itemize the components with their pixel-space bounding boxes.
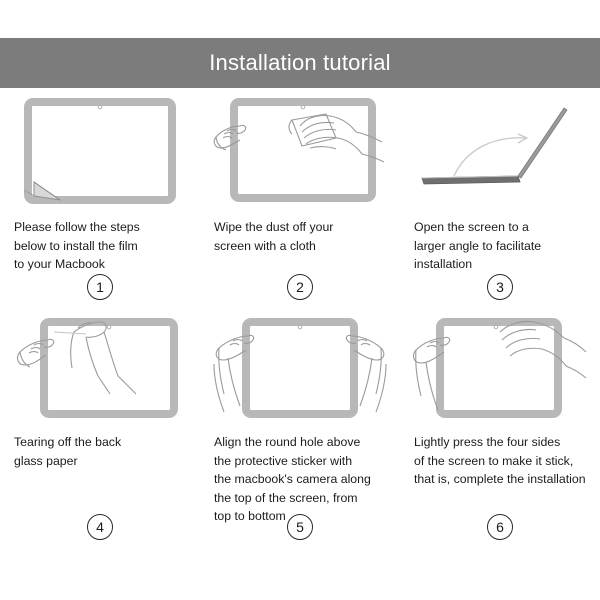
step-3-illustration [414, 96, 586, 208]
step-3-badge-wrap: 3 [400, 274, 600, 300]
steps-grid: Please follow the steps below to install… [0, 96, 600, 596]
laptop-lid-icon [518, 108, 567, 178]
step-number-badge: 1 [87, 274, 113, 300]
step-5: Align the round hole above the protectiv… [200, 318, 400, 558]
screen-frame-icon [234, 102, 372, 198]
open-arrow-icon [454, 134, 527, 176]
step-2-badge-wrap: 2 [200, 274, 400, 300]
cloth-icon [289, 114, 336, 146]
step-5-caption: Align the round hole above the protectiv… [214, 433, 386, 526]
step-number-badge: 4 [87, 514, 113, 540]
step-5-badge-wrap: 5 [200, 514, 400, 540]
step-1: Please follow the steps below to install… [0, 96, 200, 318]
step-3: Open the screen to a larger angle to fac… [400, 96, 600, 318]
step-4-caption: Tearing off the back glass paper [14, 433, 186, 470]
step-6-illustration [414, 318, 586, 423]
peeled-film-icon [54, 332, 86, 334]
left-hand-icon [214, 125, 245, 150]
page-title: Installation tutorial [209, 52, 391, 74]
screen-frame-icon [246, 322, 354, 414]
step-number-badge: 2 [287, 274, 313, 300]
header-banner: Installation tutorial [0, 38, 600, 88]
step-2-caption: Wipe the dust off your screen with a clo… [214, 218, 386, 255]
right-hand-peeling-icon [71, 322, 136, 394]
screen-frame-icon [440, 322, 558, 414]
step-4-badge-wrap: 4 [0, 514, 200, 540]
left-hand-icon [18, 339, 54, 367]
screen-frame-icon [28, 102, 172, 200]
step-5-illustration [214, 318, 386, 423]
step-2: Wipe the dust off your screen with a clo… [200, 96, 400, 318]
laptop-base-icon [422, 176, 520, 184]
screen-frame-icon [44, 322, 174, 414]
step-1-badge-wrap: 1 [0, 274, 200, 300]
step-3-caption: Open the screen to a larger angle to fac… [414, 218, 586, 274]
right-hand-pressing-icon [500, 321, 586, 378]
step-6-caption: Lightly press the four sides of the scre… [414, 433, 586, 489]
tutorial-page: Installation tutorial Please follow [0, 0, 600, 600]
step-2-illustration [214, 96, 386, 208]
step-number-badge: 3 [487, 274, 513, 300]
left-hand-icon [414, 337, 450, 410]
step-1-illustration [14, 96, 186, 208]
step-1-caption: Please follow the steps below to install… [14, 218, 186, 274]
step-4-illustration [14, 318, 186, 423]
step-number-badge: 5 [287, 514, 313, 540]
step-6: Lightly press the four sides of the scre… [400, 318, 600, 558]
step-number-badge: 6 [487, 514, 513, 540]
step-4: Tearing off the back glass paper 4 [0, 318, 200, 558]
step-6-badge-wrap: 6 [400, 514, 600, 540]
